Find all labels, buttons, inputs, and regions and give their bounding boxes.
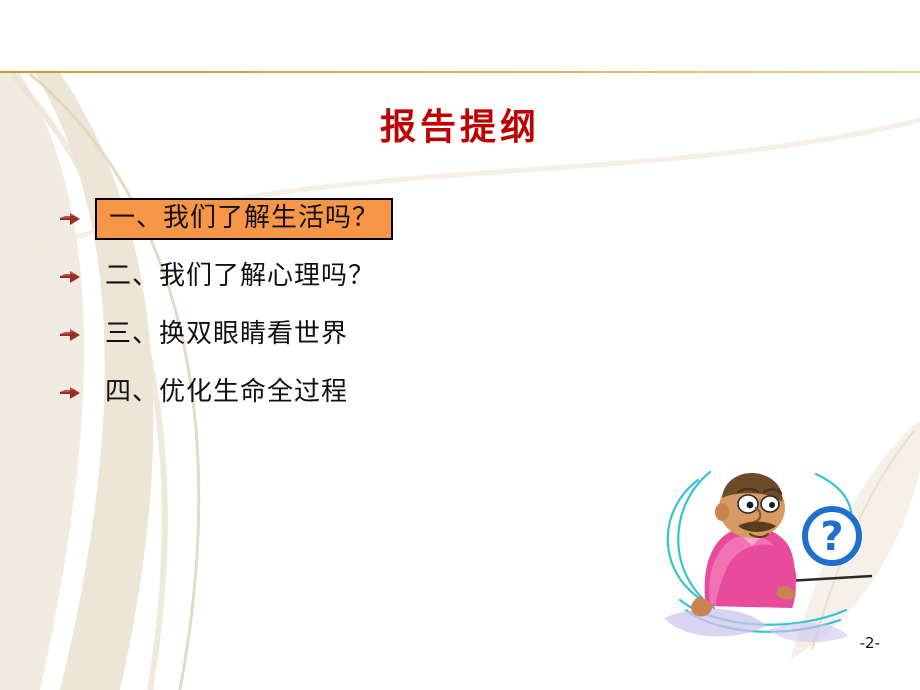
arrow-bullet-icon (57, 322, 83, 348)
arrow-bullet-icon (57, 380, 83, 406)
outline-list: 一、我们了解生活吗？ 二、我们了解心理吗？ 三、换双眼睛看世界 (55, 190, 755, 422)
list-item-label: 四、优化生命全过程 (95, 373, 358, 413)
slide-title: 报告提纲 (0, 98, 920, 150)
thinking-man-with-question-mark: ? (640, 450, 900, 650)
arrow-bullet-icon (57, 264, 83, 290)
list-item-3[interactable]: 三、换双眼睛看世界 (55, 306, 755, 364)
list-item-label: 二、我们了解心理吗？ (95, 257, 385, 297)
arrow-bullet-icon (57, 206, 83, 232)
slide-canvas: 报告提纲 一、我们了解生活吗？ 二、我们了解心理吗？ (0, 0, 920, 690)
list-item-label: 三、换双眼睛看世界 (95, 315, 358, 355)
header-divider-rule (0, 71, 920, 73)
list-item-4[interactable]: 四、优化生命全过程 (55, 364, 755, 422)
header-band (0, 0, 920, 72)
page-number: -2- (860, 634, 880, 652)
list-item-1[interactable]: 一、我们了解生活吗？ (55, 190, 755, 248)
question-mark-glyph: ? (820, 514, 843, 560)
list-item-2[interactable]: 二、我们了解心理吗？ (55, 248, 755, 306)
list-item-label: 一、我们了解生活吗？ (95, 198, 393, 240)
